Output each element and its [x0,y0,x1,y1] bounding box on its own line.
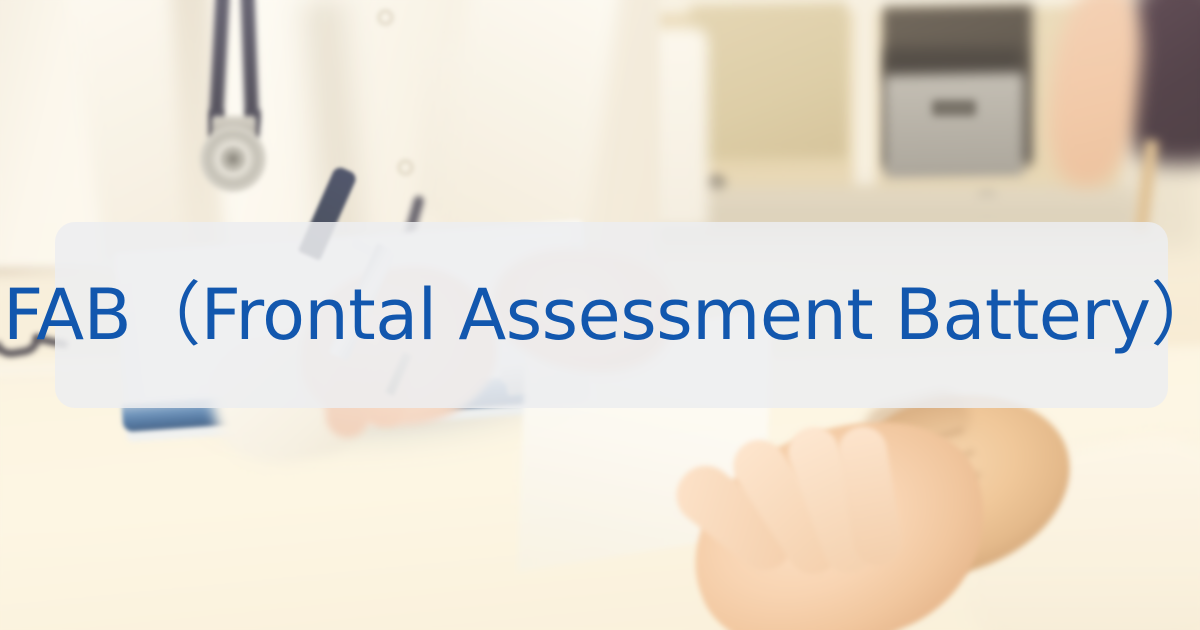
basket-label-tag [932,100,976,116]
stethoscope-diaphragm [220,146,246,172]
page-title: FAB（Frontal Assessment Battery） [3,280,1200,350]
shelf-divider [854,0,876,190]
fabric-storage-basket [884,73,1024,180]
coat-button-upper [378,10,393,25]
shelf-cubby-left [690,2,848,161]
title-overlay-band: FAB（Frontal Assessment Battery） [55,222,1168,408]
article-header-banner: FAB（Frontal Assessment Battery） [0,0,1200,630]
coat-button-lower [398,160,413,175]
